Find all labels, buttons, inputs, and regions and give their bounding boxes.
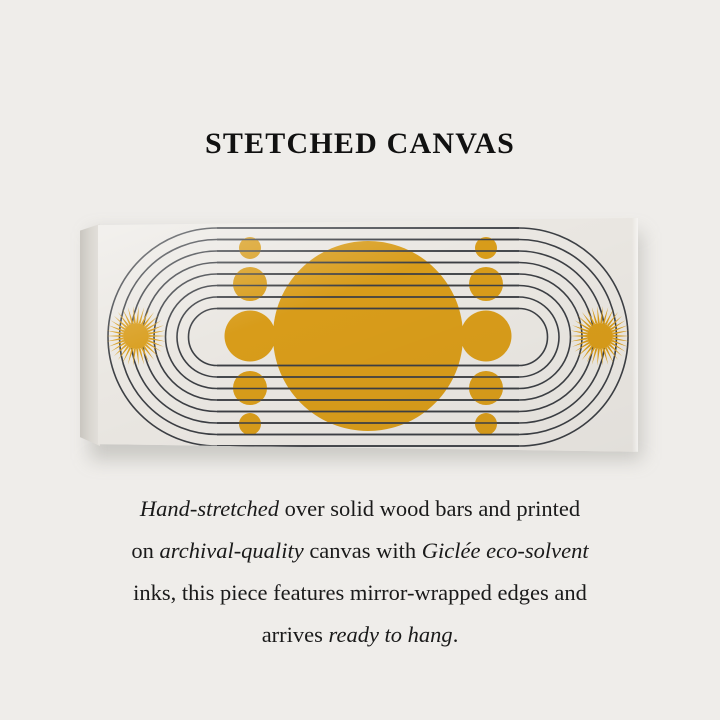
sunburst-core (123, 323, 149, 349)
desc-line-4: arrives ready to hang. (50, 614, 670, 656)
desc-line-4-post: . (453, 622, 459, 647)
artwork-surface (98, 218, 638, 456)
desc-em-ready-to-hang: ready to hang (329, 622, 453, 647)
center-sun-circle (273, 241, 463, 431)
canvas-front-face (98, 218, 638, 456)
desc-em-giclee: Giclée eco-solvent (422, 538, 589, 563)
accent-dot-1 (239, 237, 261, 259)
desc-line-2-pre: on (131, 538, 159, 563)
desc-line-2-mid: canvas with (304, 538, 422, 563)
page-title: STETCHED CANVAS (0, 124, 720, 164)
sunburst-core (587, 323, 613, 349)
accent-dot-3 (461, 311, 512, 362)
desc-em-hand-stretched: Hand-stretched (140, 496, 279, 521)
desc-line-3: inks, this piece features mirror-wrapped… (50, 572, 670, 614)
canvas-mockup (80, 218, 640, 463)
accent-dot-3 (225, 311, 276, 362)
accent-dot-2 (233, 267, 267, 301)
product-description: Hand-stretched over solid wood bars and … (50, 488, 670, 656)
product-detail-page: STETCHED CANVAS (0, 0, 720, 720)
desc-line-1-rest: over solid wood bars and printed (279, 496, 580, 521)
desc-line-4-pre: arrives (262, 622, 329, 647)
desc-em-archival-quality: archival-quality (160, 538, 304, 563)
accent-dot-1 (475, 237, 497, 259)
desc-line-2: on archival-quality canvas with Giclée e… (50, 530, 670, 572)
desc-line-1: Hand-stretched over solid wood bars and … (50, 488, 670, 530)
accent-dot-5 (239, 413, 261, 435)
accent-dot-5 (475, 413, 497, 435)
artwork-svg (98, 218, 638, 456)
canvas-wrapped-side-edge (80, 224, 100, 446)
accent-dot-2 (469, 267, 503, 301)
